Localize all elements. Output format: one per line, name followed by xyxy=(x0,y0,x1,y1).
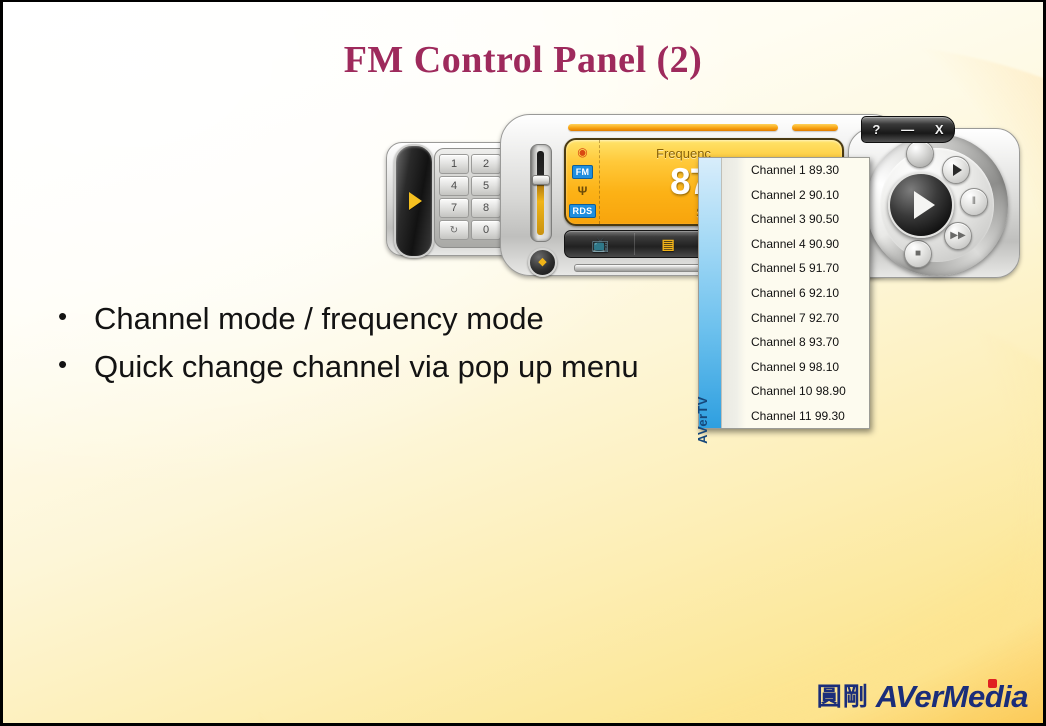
key-0[interactable]: 0 xyxy=(471,220,501,240)
rds-badge: RDS xyxy=(569,204,597,218)
window-titlebar: ? — X xyxy=(861,116,955,143)
play-icon xyxy=(914,191,935,219)
menu-item-channel-3[interactable]: Channel 3 90.50 xyxy=(749,211,869,227)
bullet-text: Channel mode / frequency mode xyxy=(94,297,683,341)
tv-icon: 📺 xyxy=(592,237,609,251)
speaker-icon[interactable]: ◆ xyxy=(528,248,557,277)
bullet-marker-icon: • xyxy=(58,345,94,384)
volume-track xyxy=(537,151,544,235)
accent-bar-left xyxy=(568,124,778,131)
logo-cjk-text: 圓剛 xyxy=(817,684,869,709)
minimize-button[interactable]: — xyxy=(901,123,914,136)
volume-slider[interactable] xyxy=(530,144,552,242)
accent-bar-right xyxy=(792,124,838,131)
volume-knob[interactable] xyxy=(532,175,550,185)
teletext-button[interactable]: ▤ xyxy=(635,233,703,255)
dial-button-next[interactable] xyxy=(942,156,970,184)
jog-dial: ‖ ▶▶ ■ xyxy=(866,134,1008,276)
fm-badge: FM xyxy=(572,165,594,179)
play-small-icon xyxy=(953,164,962,176)
teletext-icon: ▤ xyxy=(662,237,675,251)
rocker-button[interactable] xyxy=(394,144,434,258)
menu-item-channel-9[interactable]: Channel 9 98.10 xyxy=(749,359,869,375)
popup-item-list: Channel 1 89.30 Channel 2 90.10 Channel … xyxy=(746,158,869,428)
menu-item-channel-4[interactable]: Channel 4 90.90 xyxy=(749,236,869,252)
popup-brand-label: AVerTV xyxy=(695,396,710,444)
menu-item-channel-7[interactable]: Channel 7 92.70 xyxy=(749,310,869,326)
list-item: • Channel mode / frequency mode xyxy=(58,297,683,341)
avermedia-logo: 圓剛 AVerMedia xyxy=(817,681,1028,712)
bullet-list: • Channel mode / frequency mode • Quick … xyxy=(58,297,683,394)
menu-item-channel-10[interactable]: Channel 10 98.90 xyxy=(749,383,869,399)
eye-icon: ◉ xyxy=(577,146,587,158)
key-7[interactable]: 7 xyxy=(439,198,469,218)
tv-button[interactable]: 📺 xyxy=(567,233,635,255)
dial-button-top[interactable] xyxy=(906,140,934,168)
bullet-text: Quick change channel via pop up menu xyxy=(94,345,683,389)
popup-brand-strip: AVerTV xyxy=(699,158,722,428)
bullet-marker-icon: • xyxy=(58,297,94,336)
logo-accent-dot xyxy=(988,679,997,688)
dial-button-bottom[interactable]: ■ xyxy=(904,240,932,268)
dial-button-right[interactable]: ‖ xyxy=(960,188,988,216)
antenna-icon: Ψ xyxy=(578,185,588,197)
menu-item-channel-2[interactable]: Channel 2 90.10 xyxy=(749,187,869,203)
key-2[interactable]: 2 xyxy=(471,154,501,174)
menu-item-channel-6[interactable]: Channel 6 92.10 xyxy=(749,285,869,301)
key-4[interactable]: 4 xyxy=(439,176,469,196)
lcd-status-column: ◉ FM Ψ RDS xyxy=(566,140,600,224)
menu-item-channel-1[interactable]: Channel 1 89.30 xyxy=(749,162,869,178)
popup-gutter xyxy=(722,158,746,428)
help-button[interactable]: ? xyxy=(872,123,880,136)
page-title: FM Control Panel (2) xyxy=(0,38,1046,82)
menu-item-channel-8[interactable]: Channel 8 93.70 xyxy=(749,334,869,350)
key-5[interactable]: 5 xyxy=(471,176,501,196)
close-button[interactable]: X xyxy=(935,123,944,136)
logo-wordmark: AVerMedia xyxy=(876,681,1028,712)
play-button[interactable] xyxy=(888,172,954,238)
logo-wordmark-text: AVerMedia xyxy=(876,679,1028,714)
list-item: • Quick change channel via pop up menu xyxy=(58,345,683,389)
menu-item-channel-11[interactable]: Channel 11 99.30 xyxy=(749,408,869,424)
key-recall-icon[interactable]: ↻ xyxy=(439,220,469,240)
key-8[interactable]: 8 xyxy=(471,198,501,218)
play-triangle-icon xyxy=(409,192,422,210)
dial-button-forward[interactable]: ▶▶ xyxy=(944,222,972,250)
menu-item-channel-5[interactable]: Channel 5 91.70 xyxy=(749,260,869,276)
key-1[interactable]: 1 xyxy=(439,154,469,174)
slide-canvas: FM Control Panel (2) • Channel mode / fr… xyxy=(0,0,1046,726)
channel-popup-menu[interactable]: AVerTV Channel 1 89.30 Channel 2 90.10 C… xyxy=(698,157,870,429)
